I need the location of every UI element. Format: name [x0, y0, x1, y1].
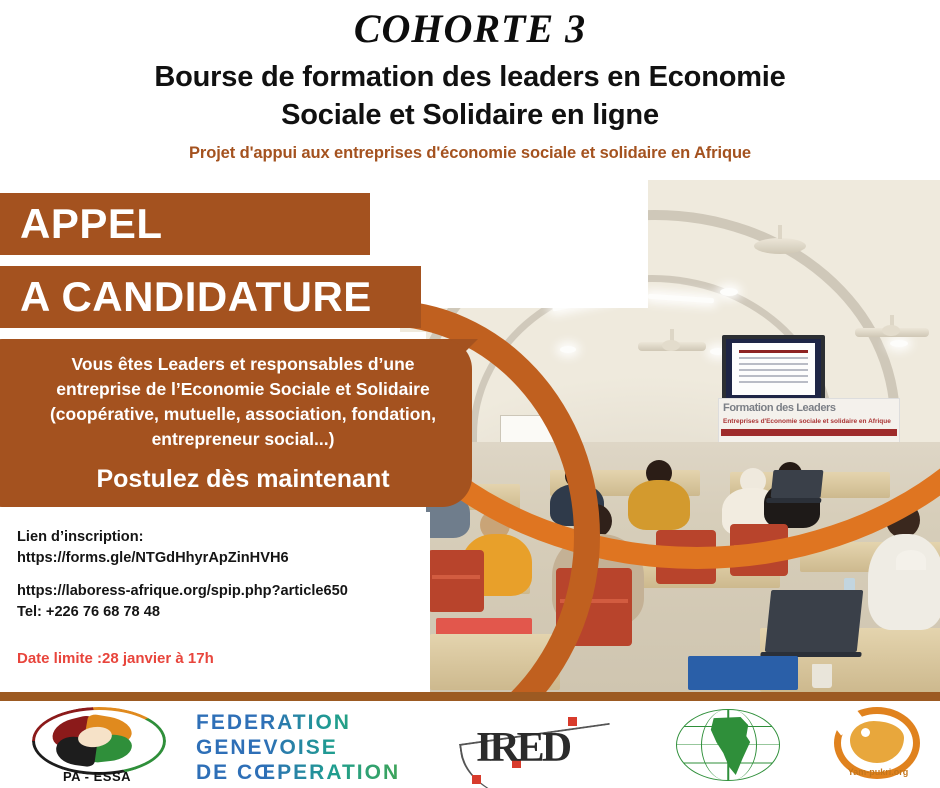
ceiling-light-icon	[890, 340, 908, 347]
photo-scene: Formation des Leaders Entreprises d'Econ…	[400, 180, 940, 692]
laptop	[771, 470, 824, 498]
training-photo: Formation des Leaders Entreprises d'Econ…	[400, 180, 940, 692]
pa-essa-label: PA - ESSA	[22, 769, 172, 784]
registration-block: Lien d’inscription: https://forms.gle/NT…	[17, 527, 417, 568]
ceiling-light-icon	[560, 346, 576, 353]
project-subtitle: Projet d'appui aux entreprises d'économi…	[0, 144, 940, 163]
desk	[430, 634, 560, 690]
speech-bubble-text: Vous êtes Leaders et responsables d’une …	[8, 352, 478, 451]
blue-folder	[688, 656, 798, 690]
yam-pukri-logo: Yam-pukri.org	[830, 705, 926, 787]
phone-number[interactable]: Tel: +226 76 68 78 48	[17, 602, 417, 623]
classroom-floor	[400, 442, 940, 692]
fgc-line-2: GENEVOISE	[196, 736, 426, 761]
ceiling-fan-hub	[662, 340, 680, 351]
fgc-line-1: FEDERATION	[196, 711, 426, 736]
africa-institute-logo	[672, 707, 784, 785]
participant-head	[886, 502, 920, 538]
candidature-banner: A CANDIDATURE	[0, 266, 421, 328]
wall-presentation-screen	[722, 335, 825, 403]
apply-now-text: Postulez dès maintenant	[8, 465, 478, 494]
chair	[730, 524, 788, 576]
page-title-line-1: Bourse de formation des leaders en Econo…	[60, 58, 880, 96]
event-banner-title: Formation des Leaders	[723, 402, 836, 414]
ired-square-icon	[472, 775, 481, 784]
pa-essa-logo: PA - ESSA	[22, 705, 172, 787]
participant	[868, 534, 940, 630]
fgc-line-3: DE CŒPERATION	[196, 761, 426, 786]
ceiling-light-icon	[720, 288, 738, 296]
chair	[428, 550, 484, 612]
participant	[628, 480, 690, 530]
bubble-line-1: Vous êtes Leaders et responsables d’une	[8, 352, 478, 377]
participant-cap	[896, 550, 926, 570]
candidature-label: A CANDIDATURE	[20, 273, 372, 321]
registration-form-link[interactable]: https://forms.gle/NTGdHhyrApZinHVH6	[17, 548, 417, 569]
slide-content	[732, 343, 815, 395]
cup	[682, 550, 694, 566]
yam-eye-icon	[861, 728, 870, 737]
poster-header: COHORTE 3 Bourse de formation des leader…	[0, 0, 940, 180]
event-banner-subtitle: Entreprises d'Economie sociale et solida…	[723, 418, 891, 425]
logo-strip: PA - ESSA FEDERATION GENEVOISE DE CŒPERA…	[0, 701, 940, 788]
bubble-line-2: entreprise de l’Economie Sociale et Soli…	[8, 377, 478, 402]
appel-banner: APPEL	[0, 193, 370, 255]
ired-label: IRED	[476, 727, 569, 769]
laptop	[765, 590, 864, 652]
ired-logo: IRED	[470, 715, 645, 779]
contact-info: Lien d’inscription: https://forms.gle/NT…	[17, 527, 417, 636]
cohort-title: COHORTE 3	[0, 0, 940, 50]
website-block: https://laboress-afrique.org/spip.php?ar…	[17, 581, 417, 622]
photo-top-left-notch	[400, 180, 648, 308]
deadline-text: Date limite :28 janvier à 17h	[17, 650, 214, 667]
appel-label: APPEL	[20, 200, 163, 248]
page-title: Bourse de formation des leaders en Econo…	[60, 58, 880, 135]
bottom-divider-bar	[0, 692, 940, 701]
ired-square-icon	[568, 717, 577, 726]
chair	[556, 568, 632, 646]
cup	[812, 664, 832, 688]
bubble-line-4: entrepreneur social...)	[8, 427, 478, 452]
participant-head	[578, 504, 612, 538]
federation-genevoise-logo: FEDERATION GENEVOISE DE CŒPERATION	[196, 711, 426, 783]
bubble-line-3: (coopérative, mutuelle, association, fon…	[8, 402, 478, 427]
ceiling-fan-hub	[882, 325, 900, 336]
event-banner-bar	[721, 429, 897, 436]
website-link[interactable]: https://laboress-afrique.org/spip.php?ar…	[17, 581, 417, 602]
registration-label: Lien d’inscription:	[17, 527, 417, 548]
page-title-line-2: Sociale et Solidaire en ligne	[60, 96, 880, 134]
poster-root: COHORTE 3 Bourse de formation des leader…	[0, 0, 940, 788]
yam-pukri-label: Yam-pukri.org	[830, 767, 926, 777]
ceiling-fan-lamp	[754, 238, 806, 254]
